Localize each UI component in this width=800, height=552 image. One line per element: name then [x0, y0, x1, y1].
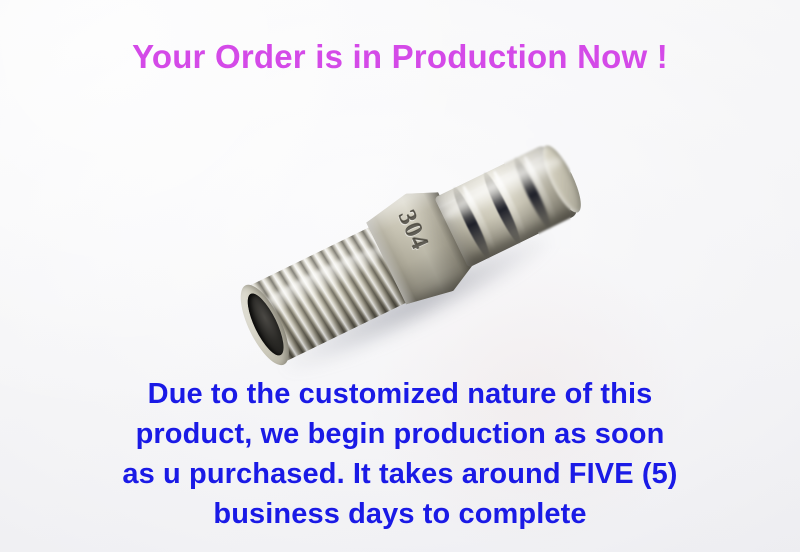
- notice-line: product, we begin production as soon: [0, 414, 800, 454]
- product-photo: 304: [236, 150, 586, 365]
- notice-line: as u purchased. It takes around FIVE (5): [0, 454, 800, 494]
- page-title: Your Order is in Production Now !: [0, 38, 800, 76]
- notice-line: business days to complete: [0, 494, 800, 534]
- notice-image: Your Order is in Production Now ! 304: [0, 0, 800, 552]
- notice-line: Due to the customized nature of this: [0, 374, 800, 414]
- production-notice-text: Due to the customized nature of this pro…: [0, 374, 800, 534]
